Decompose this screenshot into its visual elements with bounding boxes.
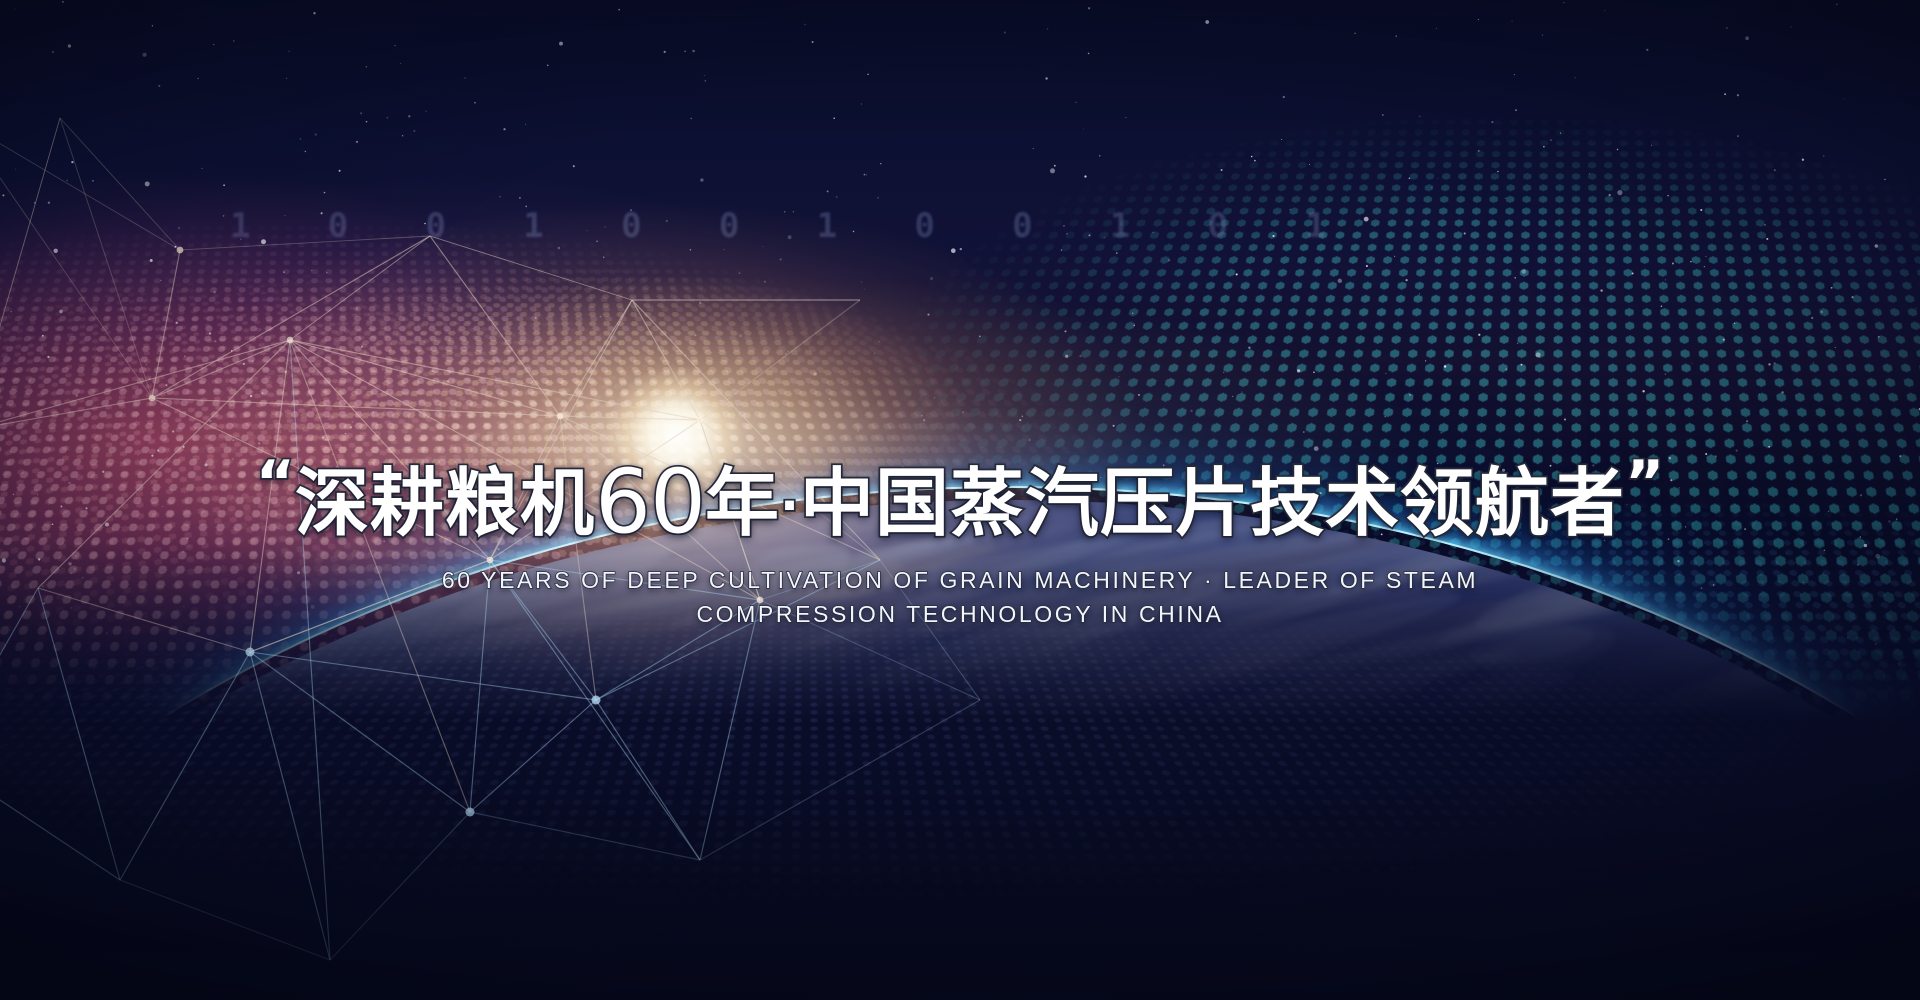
mesh-line bbox=[60, 118, 152, 398]
mesh-line bbox=[152, 340, 290, 398]
binary-digit: 0 bbox=[914, 206, 938, 246]
mesh-line bbox=[152, 398, 560, 416]
binary-digit: 1 bbox=[817, 206, 841, 246]
hero-banner: 100100100101 “深耕粮机60年·中国蒸汽压片技术领航者” 60 YE… bbox=[0, 0, 1920, 1000]
mesh-line bbox=[560, 300, 632, 416]
mesh-line bbox=[430, 236, 560, 416]
mesh-line bbox=[152, 250, 180, 398]
subtitle-line-1: 60 YEARS OF DEEP CULTIVATION OF GRAIN MA… bbox=[0, 563, 1920, 598]
mesh-line bbox=[60, 118, 180, 250]
mesh-line bbox=[700, 300, 860, 420]
binary-digit: 0 bbox=[328, 206, 352, 246]
mesh-node bbox=[697, 417, 704, 424]
title-separator: · bbox=[780, 477, 800, 535]
mesh-line bbox=[0, 118, 60, 430]
mesh-node bbox=[246, 648, 255, 657]
binary-digit: 0 bbox=[1208, 206, 1232, 246]
mesh-line bbox=[290, 340, 560, 416]
title-part-1: 深耕粮机 bbox=[295, 461, 595, 547]
mesh-line bbox=[0, 120, 180, 250]
binary-digit: 0 bbox=[426, 206, 450, 246]
title-part-3: 中国蒸汽压片技术领航者 bbox=[800, 461, 1625, 547]
main-title: “深耕粮机60年·中国蒸汽压片技术领航者” bbox=[0, 452, 1920, 549]
mesh-node bbox=[287, 337, 294, 344]
mesh-node bbox=[177, 247, 184, 254]
binary-digit: 0 bbox=[1012, 206, 1036, 246]
binary-digit-row: 100100100101 bbox=[230, 206, 1330, 246]
mesh-line bbox=[0, 120, 152, 398]
binary-digit: 1 bbox=[523, 206, 547, 246]
title-number: 60 bbox=[595, 451, 705, 554]
title-part-2: 年 bbox=[705, 461, 780, 547]
mesh-line bbox=[290, 340, 700, 420]
binary-digit: 0 bbox=[719, 206, 743, 246]
mesh-line bbox=[290, 236, 430, 340]
mesh-line bbox=[152, 236, 430, 398]
binary-digit: 1 bbox=[1110, 206, 1134, 246]
open-quote: “ bbox=[256, 448, 295, 518]
mesh-node bbox=[557, 413, 564, 420]
mesh-line bbox=[0, 398, 152, 430]
headline-block: “深耕粮机60年·中国蒸汽压片技术领航者” 60 YEARS OF DEEP C… bbox=[0, 452, 1920, 632]
mesh-line bbox=[632, 300, 700, 420]
mesh-line bbox=[560, 416, 700, 420]
binary-digit: 0 bbox=[621, 206, 645, 246]
close-quote: ” bbox=[1625, 448, 1664, 518]
binary-digit: 1 bbox=[230, 206, 254, 246]
subtitle-line-2: COMPRESSION TECHNOLOGY IN CHINA bbox=[0, 597, 1920, 632]
mesh-node bbox=[149, 395, 156, 402]
binary-digit: 1 bbox=[1305, 206, 1329, 246]
mesh-line bbox=[0, 340, 290, 430]
subtitle-block: 60 YEARS OF DEEP CULTIVATION OF GRAIN MA… bbox=[0, 563, 1920, 632]
